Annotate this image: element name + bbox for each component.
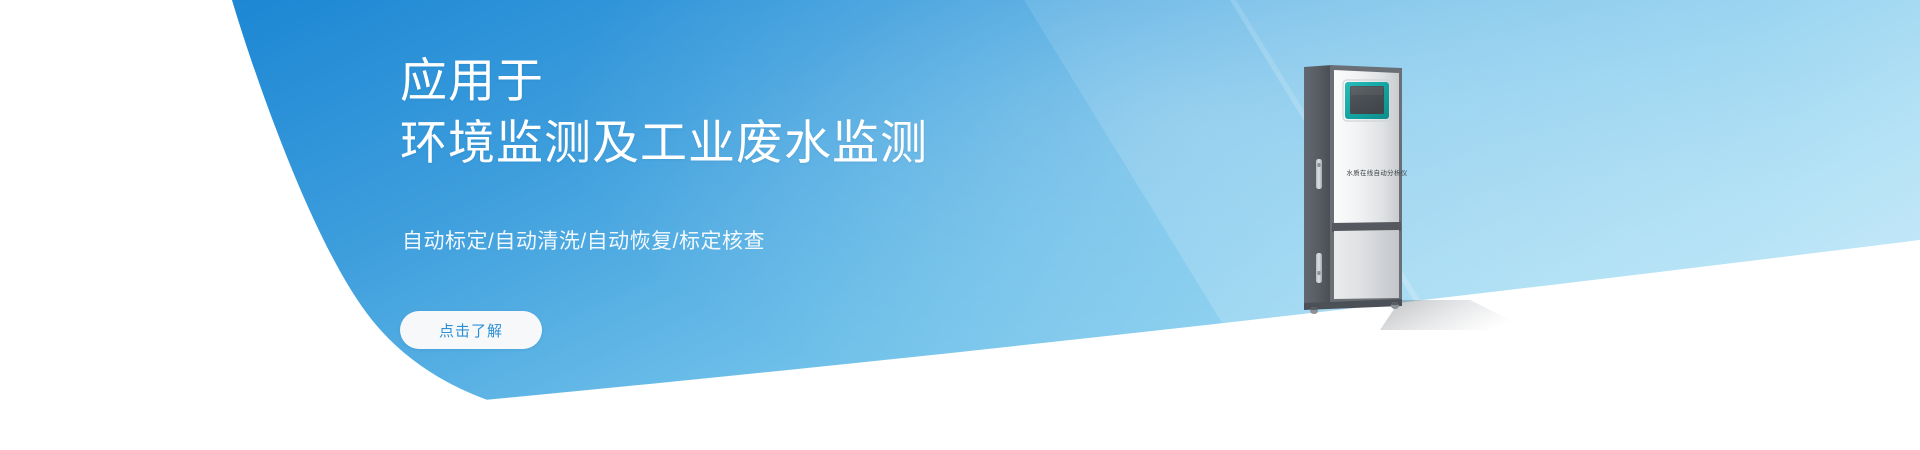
water-analyzer-icon — [1302, 63, 1420, 313]
caster-left-mount — [1311, 307, 1317, 310]
cabinet-lower-door — [1334, 230, 1399, 299]
display-screen-glare — [1351, 87, 1383, 95]
product-nameplate: 水质在线自动分析仪 — [1337, 169, 1417, 177]
hero-banner: 应用于 环境监测及工业废水监测 自动标定/自动清洗/自动恢复/标定核查 点击了解 — [0, 0, 1920, 450]
banner-text-block: 应用于 环境监测及工业废水监测 自动标定/自动清洗/自动恢复/标定核查 点击了解 — [400, 0, 1200, 450]
lower-door-handle[interactable] — [1316, 253, 1322, 283]
headline-line-1: 应用于 — [400, 50, 928, 112]
banner-subtitle: 自动标定/自动清洗/自动恢复/标定核查 — [402, 228, 765, 256]
caster-right-mount — [1392, 302, 1398, 305]
cta-button[interactable]: 点击了解 — [400, 311, 542, 349]
banner-headline: 应用于 环境监测及工业废水监测 — [400, 50, 928, 174]
product-image-water-analyzer — [1302, 63, 1420, 313]
headline-line-2: 环境监测及工业废水监测 — [400, 112, 928, 174]
lower-handle-detail — [1317, 271, 1320, 275]
upper-handle-detail — [1317, 163, 1320, 167]
